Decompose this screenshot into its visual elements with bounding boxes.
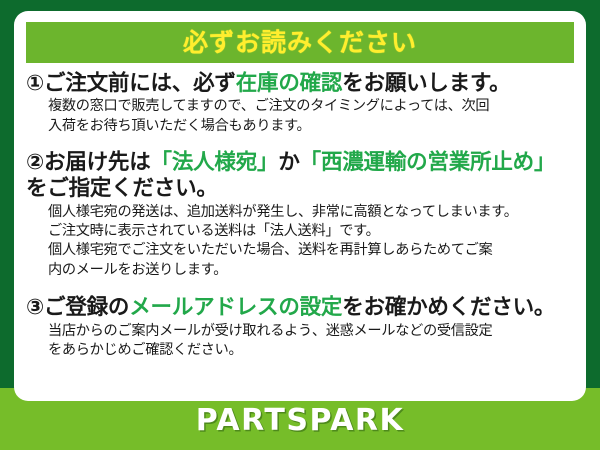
notice-header-title: 必ずお読みください: [183, 30, 417, 55]
notice-item-3-marker: ③: [26, 295, 44, 320]
notice-item-1-marker: ①: [26, 71, 44, 96]
notice-item-3-body-line-2: をあらかじめご確認ください。: [26, 341, 576, 360]
notice-item-1-body-line-1: 複数の窓口で販売してますので、ご注文のタイミングによっては、次回: [26, 97, 576, 116]
notice-item-2-heading-highlight-1: 「法人様宛」: [151, 150, 279, 175]
notice-banner: 必ずお読みください ①ご注文前には、必ず在庫の確認をお願いします。 複数の窓口で…: [0, 0, 600, 450]
notice-item-2-body-line-1: 個人様宅宛の発送は、追加送料が発生し、非常に高額となってしまいます。: [26, 203, 576, 222]
notice-item-2-body-line-4: 内のメールをお送りします。: [26, 261, 576, 280]
notice-item-2-marker: ②: [26, 150, 44, 175]
notice-item-2-heading: ②お届け先は「法人様宛」か「西濃運輸の営業所止め」 をご指定ください。: [26, 150, 576, 202]
notice-item-2-heading-highlight-2: 「西濃運輸の営業所止め」: [300, 150, 556, 175]
notice-item-2-body-line-3: 個人様宅宛でご注文をいただいた場合、送料を再計算しあらためてご案: [26, 241, 576, 260]
notice-header-bar: 必ずお読みください: [26, 22, 574, 63]
notice-panel: 必ずお読みください ①ご注文前には、必ず在庫の確認をお願いします。 複数の窓口で…: [14, 11, 586, 401]
notice-item-3: ③ご登録のメールアドレスの設定をお確かめください。 当店からのご案内メールが受け…: [14, 295, 586, 360]
notice-item-1: ①ご注文前には、必ず在庫の確認をお願いします。 複数の窓口で販売してますので、ご…: [14, 71, 586, 136]
notice-item-2-heading-part-1: お届け先は: [44, 150, 151, 175]
notice-item-1-heading-highlight: 在庫の確認: [236, 71, 343, 96]
notice-item-3-body-line-1: 当店からのご案内メールが受け取れるよう、迷惑メールなどの受信設定: [26, 322, 576, 341]
notice-item-1-body-line-2: 入荷をお待ち頂いただく場合もあります。: [26, 117, 576, 136]
notice-item-3-heading-highlight: メールアドレスの設定: [129, 295, 342, 320]
notice-item-1-heading: ①ご注文前には、必ず在庫の確認をお願いします。: [26, 71, 576, 97]
notice-item-2-heading-part-3: か: [278, 150, 299, 175]
notice-item-1-heading-part-3: をお願いします。: [342, 71, 510, 96]
notice-item-2-body-line-2: ご注文時に表示されている送料は「法人送料」です。: [26, 222, 576, 241]
footer-logo: PARTSPARK: [0, 403, 600, 438]
notice-item-3-heading-part-3: をお確かめください。: [342, 295, 555, 320]
notice-item-3-heading: ③ご登録のメールアドレスの設定をお確かめください。: [26, 295, 576, 321]
notice-item-1-heading-part-1: ご注文前には、必ず: [44, 71, 236, 96]
partspark-logo-text: PARTSPARK: [196, 403, 405, 438]
notice-item-2-heading-line-2: をご指定ください。: [26, 176, 576, 202]
notice-item-3-heading-part-1: ご登録の: [44, 295, 129, 320]
notice-item-2: ②お届け先は「法人様宛」か「西濃運輸の営業所止め」 をご指定ください。 個人様宅…: [14, 150, 586, 280]
notice-item-list: ①ご注文前には、必ず在庫の確認をお願いします。 複数の窓口で販売してますので、ご…: [14, 71, 586, 361]
